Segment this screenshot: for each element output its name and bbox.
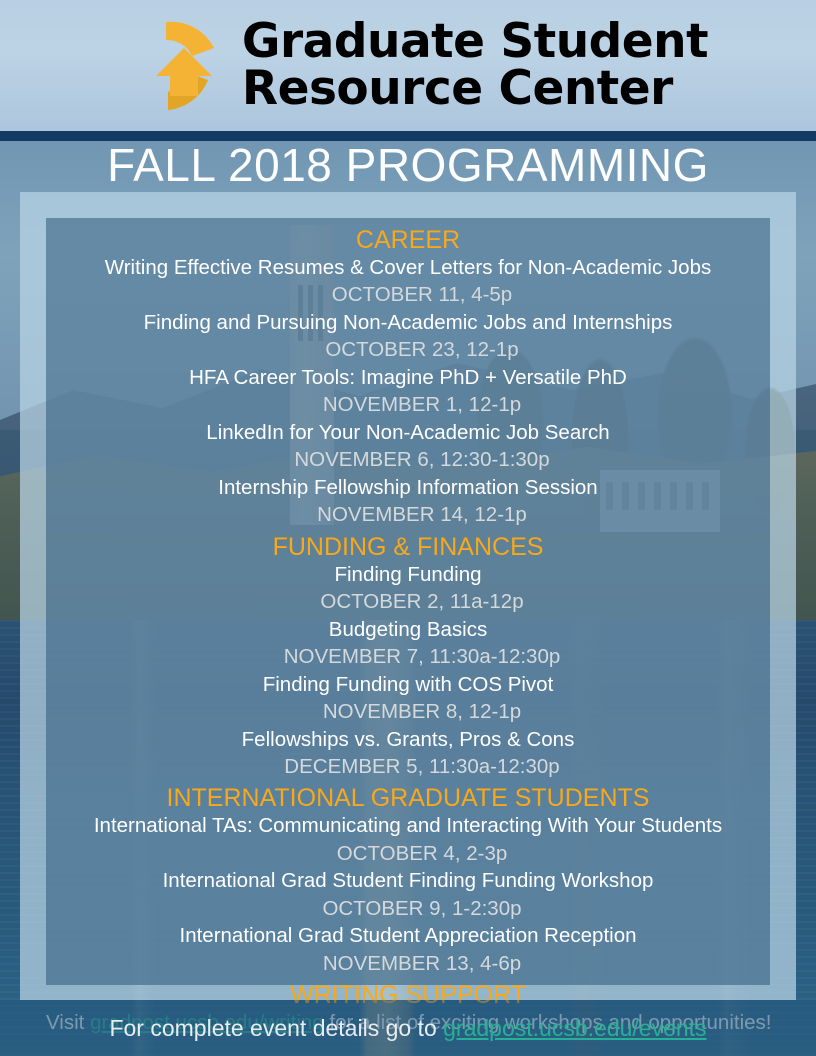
event-title: LinkedIn for Your Non-Academic Job Searc… — [46, 419, 770, 446]
event-date: DECEMBER 5, 11:30a-12:30p — [46, 753, 770, 780]
section-heading-funding-finances: FUNDING & FINANCES — [46, 533, 770, 561]
event-title: Writing Effective Resumes & Cover Letter… — [46, 254, 770, 281]
footer-events-link[interactable]: gradpost.ucsb.edu/events — [443, 1015, 706, 1041]
page-title: FALL 2018 PROGRAMMING — [0, 138, 816, 192]
logo-wordmark: Graduate Student Resource Center — [242, 19, 708, 111]
section-heading-international-graduate-students: INTERNATIONAL GRADUATE STUDENTS — [46, 784, 770, 812]
event-date: OCTOBER 2, 11a-12p — [46, 588, 770, 615]
event-title: Finding and Pursuing Non-Academic Jobs a… — [46, 309, 770, 336]
gsrc-g-arrow-logo — [108, 10, 226, 122]
footer-bar: For complete event details go to gradpos… — [0, 1000, 816, 1056]
event-title: Finding Funding — [46, 561, 770, 588]
event-date: OCTOBER 4, 2-3p — [46, 840, 770, 867]
event-date: NOVEMBER 6, 12:30-1:30p — [46, 446, 770, 473]
event-date: OCTOBER 11, 4-5p — [46, 281, 770, 308]
event-date: NOVEMBER 7, 11:30a-12:30p — [46, 643, 770, 670]
event-date: OCTOBER 23, 12-1p — [46, 336, 770, 363]
event-date: OCTOBER 9, 1-2:30p — [46, 895, 770, 922]
logo-line-2: Resource Center — [242, 66, 708, 112]
poster: Graduate Student Resource Center FALL 20… — [0, 0, 816, 1056]
event-title: International Grad Student Appreciation … — [46, 922, 770, 949]
event-title: International TAs: Communicating and Int… — [46, 812, 770, 839]
event-date: NOVEMBER 8, 12-1p — [46, 698, 770, 725]
event-title: Budgeting Basics — [46, 616, 770, 643]
logo-line-1: Graduate Student — [242, 19, 708, 65]
event-date: NOVEMBER 13, 4-6p — [46, 950, 770, 977]
event-title: Internship Fellowship Information Sessio… — [46, 474, 770, 501]
event-title: International Grad Student Finding Fundi… — [46, 867, 770, 894]
event-title: Finding Funding with COS Pivot — [46, 671, 770, 698]
event-title: HFA Career Tools: Imagine PhD + Versatil… — [46, 364, 770, 391]
event-date: NOVEMBER 1, 12-1p — [46, 391, 770, 418]
header-band: Graduate Student Resource Center — [0, 0, 816, 131]
footer-line: For complete event details go to gradpos… — [109, 1015, 706, 1042]
programming-list: CAREER Writing Effective Resumes & Cover… — [46, 218, 770, 985]
event-title: Fellowships vs. Grants, Pros & Cons — [46, 726, 770, 753]
footer-text-before: For complete event details go to — [109, 1015, 443, 1041]
section-heading-career: CAREER — [46, 226, 770, 254]
event-date: NOVEMBER 14, 12-1p — [46, 501, 770, 528]
